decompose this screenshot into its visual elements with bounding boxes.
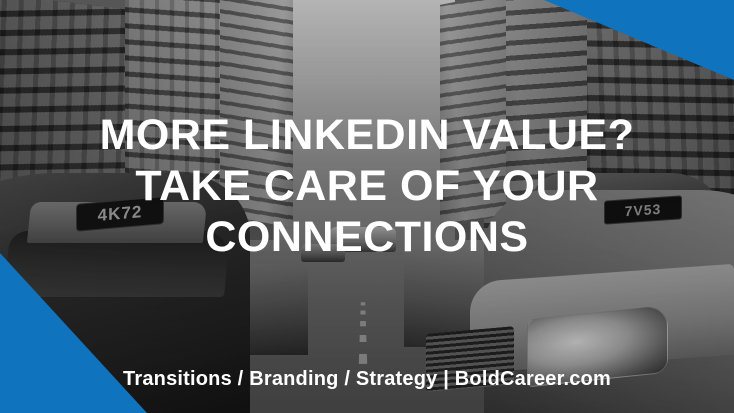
headline-line-1: MORE LINKEDIN VALUE? (26, 110, 708, 161)
headline-line-2: TAKE CARE OF YOUR (26, 161, 708, 212)
headline-line-3: CONNECTIONS (26, 212, 708, 263)
promo-banner: 4K72 7V53 MORE LINKEDIN VALUE? TAKE CARE… (0, 0, 734, 413)
headline: MORE LINKEDIN VALUE? TAKE CARE OF YOUR C… (0, 110, 734, 263)
tagline: Transitions / Branding / Strategy | Bold… (0, 368, 734, 391)
